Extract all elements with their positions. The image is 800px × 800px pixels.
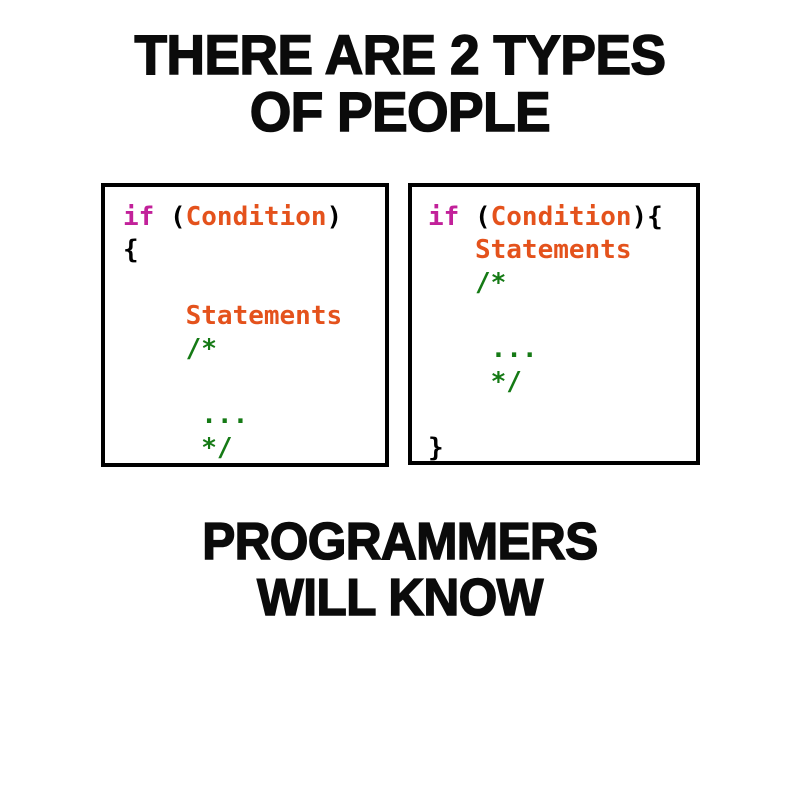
code-token-comment: /* (428, 268, 506, 298)
code-line (123, 366, 342, 399)
code-token-keyword: if (123, 202, 154, 232)
code-token-punctuation: ( (154, 202, 185, 232)
code-token-identifier: Condition (186, 202, 327, 232)
code-line: ... (428, 333, 663, 366)
code-token-punctuation: { (123, 235, 139, 265)
code-line: { (123, 234, 342, 267)
code-line: /* (123, 333, 342, 366)
bottom-caption-line-2: WILL KNOW (20, 570, 780, 626)
meme-image: THERE ARE 2 TYPES OF PEOPLE if (Conditio… (0, 0, 800, 800)
code-line (123, 267, 342, 300)
code-panel-knr: if (Condition){ Statements /* ... */ } (408, 183, 700, 465)
code-token-comment: ... (123, 400, 248, 430)
code-block-allman: if (Condition){ Statements /* ... */ } (123, 201, 342, 467)
code-token-comment: ... (428, 334, 538, 364)
code-line (428, 399, 663, 432)
code-line: */ (123, 432, 342, 465)
code-token-punctuation: ) (327, 202, 343, 232)
code-token-identifier: Statements (428, 235, 632, 265)
top-caption-line-1: THERE ARE 2 TYPES (20, 26, 780, 83)
code-token-comment: */ (428, 367, 522, 397)
code-block-knr: if (Condition){ Statements /* ... */ } (428, 201, 663, 465)
code-line (123, 465, 342, 467)
bottom-caption: PROGRAMMERS WILL KNOW (0, 514, 800, 626)
code-token-identifier: Condition (491, 202, 632, 232)
code-token-identifier: Statements (123, 301, 342, 331)
code-line (428, 300, 663, 333)
code-token-comment: */ (123, 433, 233, 463)
code-line: ... (123, 399, 342, 432)
top-caption-line-2: OF PEOPLE (20, 83, 780, 140)
code-token-punctuation: ( (459, 202, 490, 232)
code-line: Statements (428, 234, 663, 267)
code-token-keyword: if (428, 202, 459, 232)
code-line: Statements (123, 300, 342, 333)
top-caption: THERE ARE 2 TYPES OF PEOPLE (0, 26, 800, 140)
code-token-comment: /* (123, 334, 217, 364)
code-line: if (Condition) (123, 201, 342, 234)
code-line: if (Condition){ (428, 201, 663, 234)
bottom-caption-line-1: PROGRAMMERS (20, 514, 780, 570)
code-line: } (428, 432, 663, 465)
code-panel-allman: if (Condition){ Statements /* ... */ } (101, 183, 389, 467)
code-token-punctuation: } (428, 433, 444, 463)
code-token-punctuation: ){ (632, 202, 663, 232)
code-line: /* (428, 267, 663, 300)
code-line: */ (428, 366, 663, 399)
